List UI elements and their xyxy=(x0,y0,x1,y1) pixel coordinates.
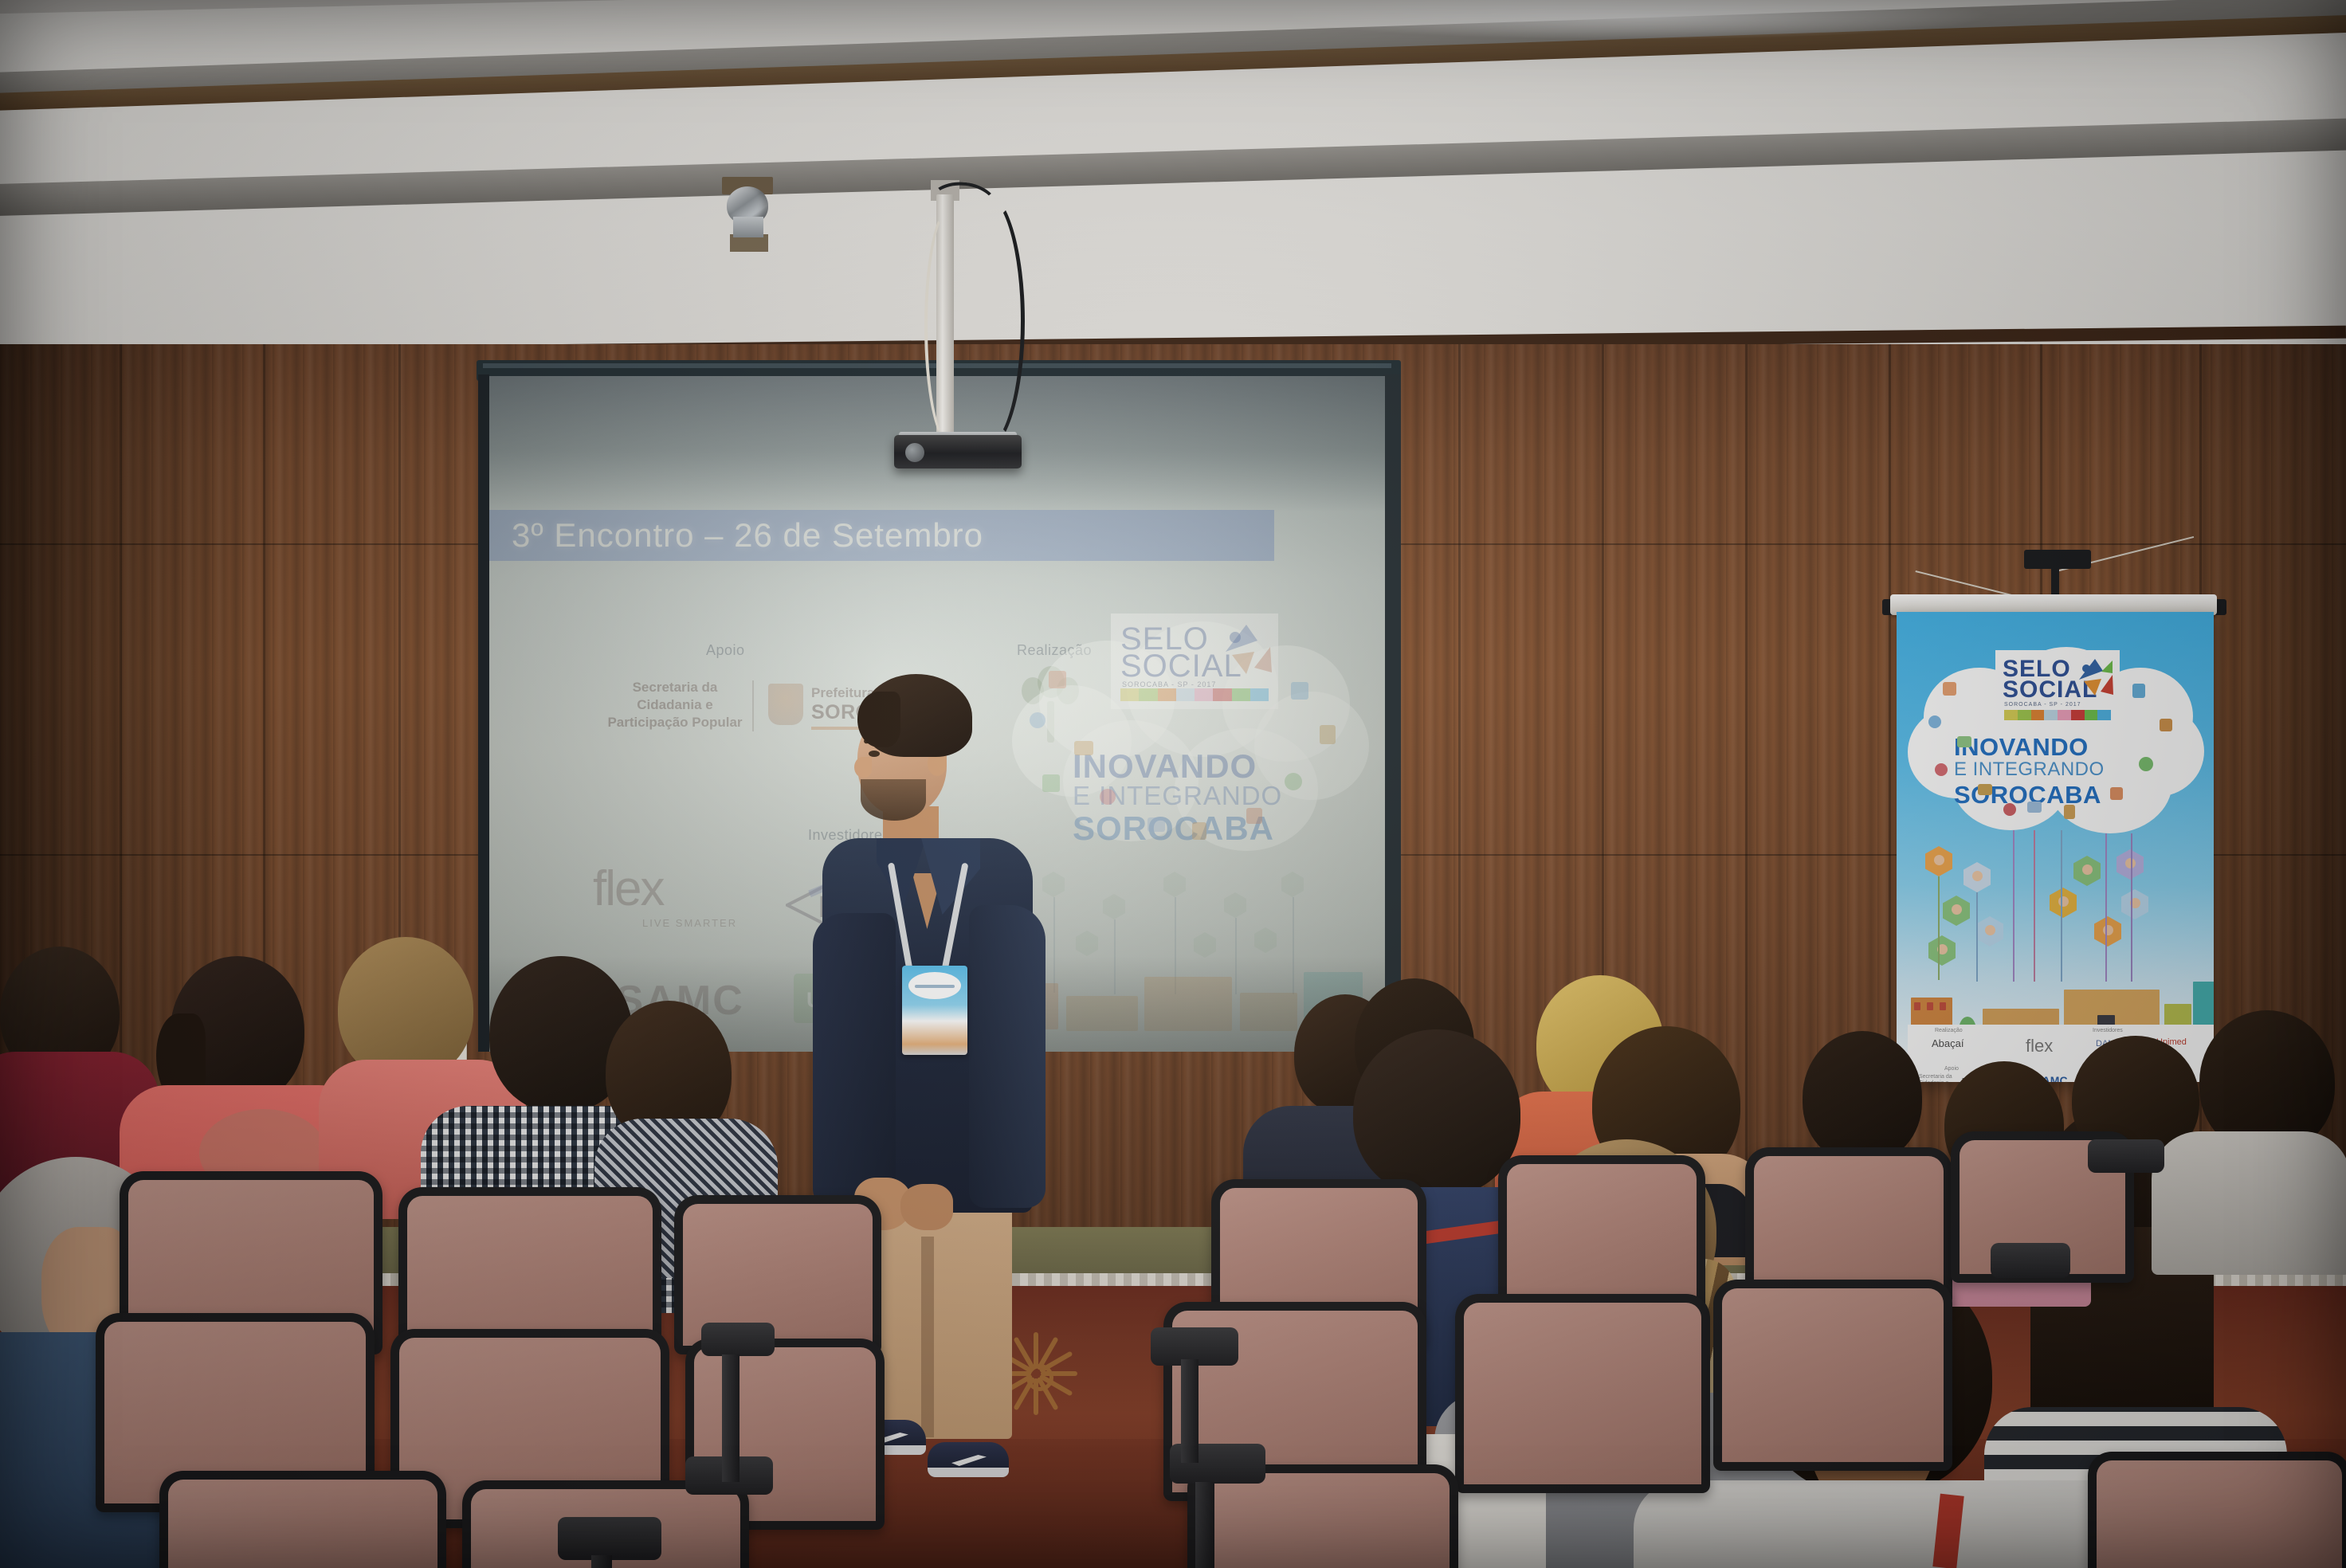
presenter-arm-right xyxy=(969,905,1045,1208)
armrest[interactable] xyxy=(1991,1243,2070,1278)
presenter-arm-left xyxy=(813,913,896,1208)
banner-footer-apoio-label: Apoio xyxy=(1944,1066,1959,1072)
spotlight-base xyxy=(733,217,763,237)
person-head xyxy=(1353,1029,1520,1197)
seat-post xyxy=(1195,1482,1214,1568)
seat[interactable] xyxy=(2088,1452,2346,1568)
ceiling-beam-3 xyxy=(0,117,2346,217)
person-head xyxy=(1803,1031,1922,1163)
ceiling xyxy=(0,0,2346,374)
banner-cloud: SELO SOCIAL SOROCABA - SP - 2017 INOVAND… xyxy=(1908,633,2203,816)
person-shoulders xyxy=(2152,1131,2346,1275)
banner-footer-flex: flex xyxy=(2026,1036,2053,1056)
badge-text-line xyxy=(915,985,955,988)
person-head xyxy=(338,937,473,1080)
presenter-name-badge xyxy=(902,966,967,1055)
seat-post xyxy=(591,1555,612,1568)
seat-post xyxy=(1181,1359,1198,1463)
presenter-hand-right xyxy=(900,1184,953,1230)
armrest[interactable] xyxy=(701,1323,775,1356)
banner-footer-secretaria: Secretaria da Cidadania e Participação P… xyxy=(1919,1074,1956,1082)
presenter-hair-front xyxy=(857,692,900,747)
presenter-leg-gap xyxy=(921,1237,934,1437)
presenter-eye xyxy=(869,751,880,757)
screen-edge-right xyxy=(1383,374,1401,1052)
seat[interactable] xyxy=(159,1471,446,1568)
presenter-beard xyxy=(861,779,926,821)
banner-stamp-sub: SOROCABA - SP - 2017 xyxy=(2004,702,2081,708)
banner-stamp-color-bars xyxy=(2004,710,2111,720)
person-shoulders-foreground xyxy=(1634,1480,2144,1568)
seat-post xyxy=(722,1354,739,1482)
auditorium-photo: 3º Encontro – 26 de Setembro Apoio Reali… xyxy=(0,0,2346,1568)
armrest[interactable] xyxy=(558,1517,661,1560)
presenter-nose xyxy=(854,757,872,778)
banner-footer-realizacao-label: Realização xyxy=(1935,1028,1963,1033)
ceiling-light-glow xyxy=(1275,0,1992,40)
rollup-banner: SELO SOCIAL SOROCABA - SP - 2017 INOVAND… xyxy=(1897,612,2214,1082)
banner-footer-investidores-label: Investidores xyxy=(2093,1028,2123,1033)
projector-cable-loop xyxy=(945,191,1025,451)
banner-stamp: SELO SOCIAL SOROCABA - SP - 2017 xyxy=(1995,650,2120,727)
banner-hanger xyxy=(2024,550,2091,569)
seat[interactable] xyxy=(1455,1294,1710,1493)
projector-lens-icon xyxy=(905,443,924,462)
banner-footer-abacai: Abaçaí xyxy=(1932,1037,1963,1049)
banner-headline1: INOVANDO xyxy=(1954,733,2089,762)
seat[interactable] xyxy=(1713,1280,1952,1471)
armrest[interactable] xyxy=(2088,1139,2164,1173)
screen-edge-left xyxy=(478,374,489,1052)
seat[interactable] xyxy=(1498,1155,1705,1315)
presenter-shoe-sole-right xyxy=(928,1468,1009,1477)
banner-selo-mark-icon xyxy=(2077,656,2114,697)
banner-headline2: E INTEGRANDO xyxy=(1954,759,2105,781)
